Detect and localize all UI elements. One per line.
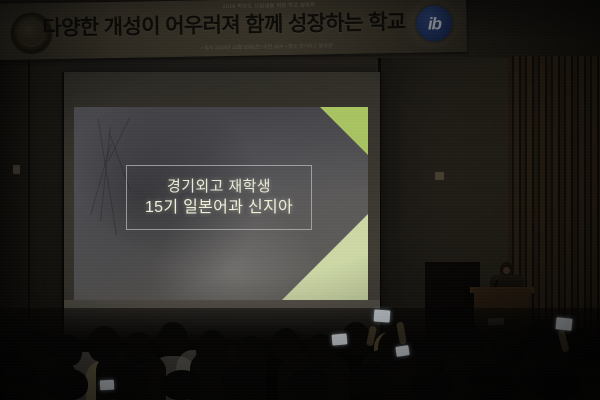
- ib-logo-text: ib: [416, 5, 453, 42]
- audience-head-5: [158, 322, 188, 356]
- audience-head-13: [452, 324, 484, 360]
- wall-fixture-right: [435, 172, 444, 180]
- audience-head-12: [416, 336, 446, 370]
- audience-head-front-7: [348, 364, 392, 400]
- audience-phone-screen-3: [395, 345, 409, 357]
- wall-fixture-left: [13, 165, 20, 174]
- ib-logo-icon: ib: [416, 5, 453, 42]
- presentation-slide: 경기외고 재학생 15기 일본어과 신지아: [74, 107, 368, 300]
- audience-head-1: [18, 330, 48, 364]
- slide-title-box: 경기외고 재학생 15기 일본어과 신지아: [126, 165, 312, 230]
- audience-head-2: [54, 334, 82, 366]
- audience-phone-screen-2: [374, 309, 391, 322]
- slide-title-line-1: 경기외고 재학생: [167, 178, 271, 195]
- audience-head-16: [566, 328, 598, 364]
- event-banner: 2019 학년도 신입생을 위한 학교 설명회 다양한 개성이 어우러져 함께 …: [0, 0, 467, 60]
- wall-seam-left: [28, 62, 30, 320]
- audience-head-front-10: [534, 368, 580, 400]
- audience-head-front-5: [222, 362, 266, 400]
- banner-details-line: ▪ 일시 2018년 10월 20일(토) 오전 10시 ▪ 장소 경기외고 봉…: [137, 41, 397, 53]
- auditorium-photo: 경기외고 재학생 15기 일본어과 신지아 2019 학년도 신입생을 위한 학…: [0, 0, 600, 400]
- audience-head-front-8: [410, 370, 452, 400]
- audience-phone-screen-1: [332, 333, 348, 345]
- audience-head-front-2: [46, 368, 88, 400]
- audience-head-front-9: [470, 364, 514, 400]
- school-crest-ring: [18, 20, 44, 46]
- banner-title: 다양한 개성이 어우러져 함께 성장하는 학교: [42, 6, 412, 42]
- audience-head-3: [88, 326, 120, 362]
- audience-head-front-6: [288, 368, 330, 400]
- audience-head-6: [196, 330, 228, 366]
- audience-head-14: [492, 330, 522, 364]
- audience-head-front-4: [162, 370, 202, 400]
- slide-accent-triangle-top-right: [320, 107, 368, 155]
- audience-head-front-1: [0, 362, 40, 400]
- audience-phone-screen-5: [100, 380, 115, 391]
- audience-head-8: [272, 328, 300, 360]
- slide-title-line-2: 15기 일본어과 신지아: [145, 198, 293, 217]
- speaker-face: [503, 267, 510, 274]
- audience-head-4: [124, 332, 152, 364]
- audience-phone-screen-4: [555, 317, 572, 331]
